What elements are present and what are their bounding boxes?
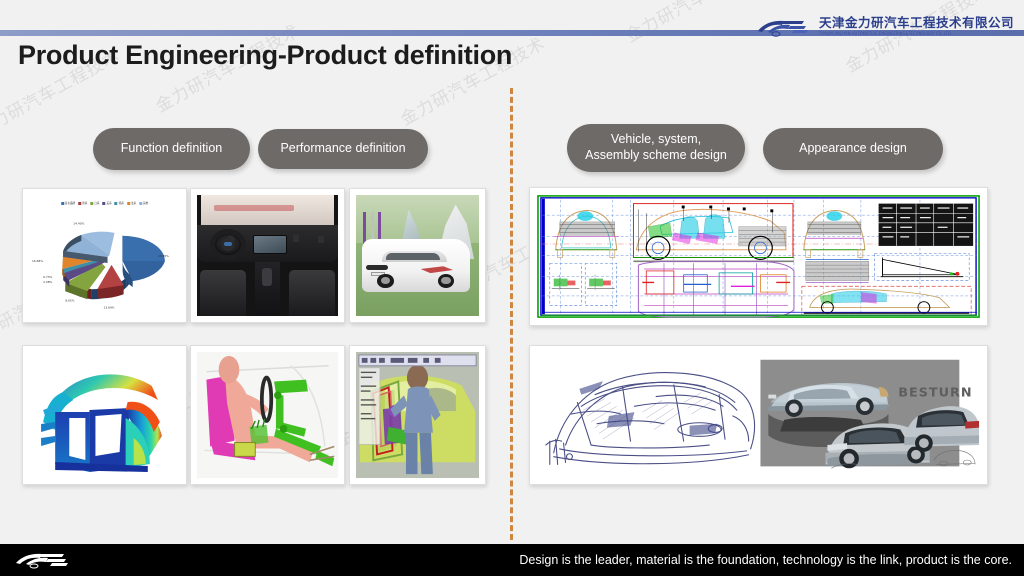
legend-item: 美系 <box>103 201 112 205</box>
jly-logo-icon <box>754 15 814 39</box>
page-title: Product Engineering-Product definition <box>18 40 512 71</box>
body-in-white-fea-image <box>29 352 180 478</box>
pie-label-6: 14.40% <box>73 222 84 226</box>
design-sketch-renders-panel[interactable]: BESTURN <box>529 345 988 485</box>
market-share-pie-chart-panel[interactable]: 自主品牌 德系 日系 美系 韩系 法系 其他 <box>22 188 187 323</box>
section-divider <box>510 88 513 540</box>
legend-item: 日系 <box>90 201 99 205</box>
label-appearance-design[interactable]: Appearance design <box>763 128 943 170</box>
vehicle-layout-cad-drawing-image <box>536 194 981 319</box>
footer-jly-logo-icon <box>14 550 74 570</box>
pie-label-2: 8.65% <box>65 298 74 302</box>
footer-bar: Design is the leader, material is the fo… <box>0 544 1024 576</box>
label-vehicle-system-assembly-scheme-design[interactable]: Vehicle, system, Assembly scheme design <box>567 124 745 172</box>
legend-item: 自主品牌 <box>61 201 75 205</box>
human-model-door-entry-image <box>356 352 479 478</box>
legend-item: 法系 <box>127 201 136 205</box>
white-suv-image <box>356 195 479 316</box>
suv-exterior-photo-panel[interactable] <box>349 188 486 323</box>
legend-item: 韩系 <box>115 201 124 205</box>
pie-chart: 自主品牌 德系 日系 美系 韩系 法系 其他 <box>29 195 180 316</box>
label-performance-definition[interactable]: Performance definition <box>258 129 428 169</box>
pie-label-3: 2.08% <box>43 280 52 284</box>
pill-line-2: Assembly scheme design <box>585 148 727 164</box>
company-logo: 天津金力研汽车工程技术有限公司 TIANJIN JINLIYAN AUTOMOT… <box>754 14 1014 40</box>
pie-label-0: 43.85% <box>158 254 169 258</box>
pie-label-4: 0.73% <box>43 275 52 279</box>
pie-label-5: 16.68% <box>32 259 43 263</box>
ingress-egress-simulation-panel[interactable] <box>349 345 486 485</box>
company-name-en: TIANJIN JINLIYAN AUTOMOTIVE ENGINEERING&… <box>819 31 1014 37</box>
legend-item: 其他 <box>139 201 148 205</box>
brand-text: BESTURN <box>898 385 972 400</box>
driver-posture-simulation-image <box>197 352 338 478</box>
pie-chart-graphic: 43.85% 13.69% 8.65% 2.08% 0.73% 16.68% 1… <box>29 207 180 315</box>
cad-package-drawing-panel[interactable] <box>529 187 988 326</box>
footer-tagline: Design is the leader, material is the fo… <box>519 553 1012 567</box>
vehicle-interior-photo-panel[interactable] <box>190 188 345 323</box>
interior-dashboard-image <box>197 195 338 316</box>
label-function-definition[interactable]: Function definition <box>93 128 250 170</box>
ergonomics-seated-manikin-panel[interactable] <box>190 345 345 485</box>
company-name-cn: 天津金力研汽车工程技术有限公司 <box>819 17 1014 30</box>
legend-item: 德系 <box>78 201 87 205</box>
fea-stress-analysis-panel[interactable] <box>22 345 187 485</box>
watermark-text: 金力研汽车工程技术 <box>620 0 774 47</box>
styling-sketch-and-renders-image: BESTURN <box>536 352 981 478</box>
pill-line-1: Vehicle, system, <box>585 132 727 148</box>
pie-label-1: 13.69% <box>103 305 114 309</box>
pie-chart-legend: 自主品牌 德系 日系 美系 韩系 法系 其他 <box>61 201 149 205</box>
